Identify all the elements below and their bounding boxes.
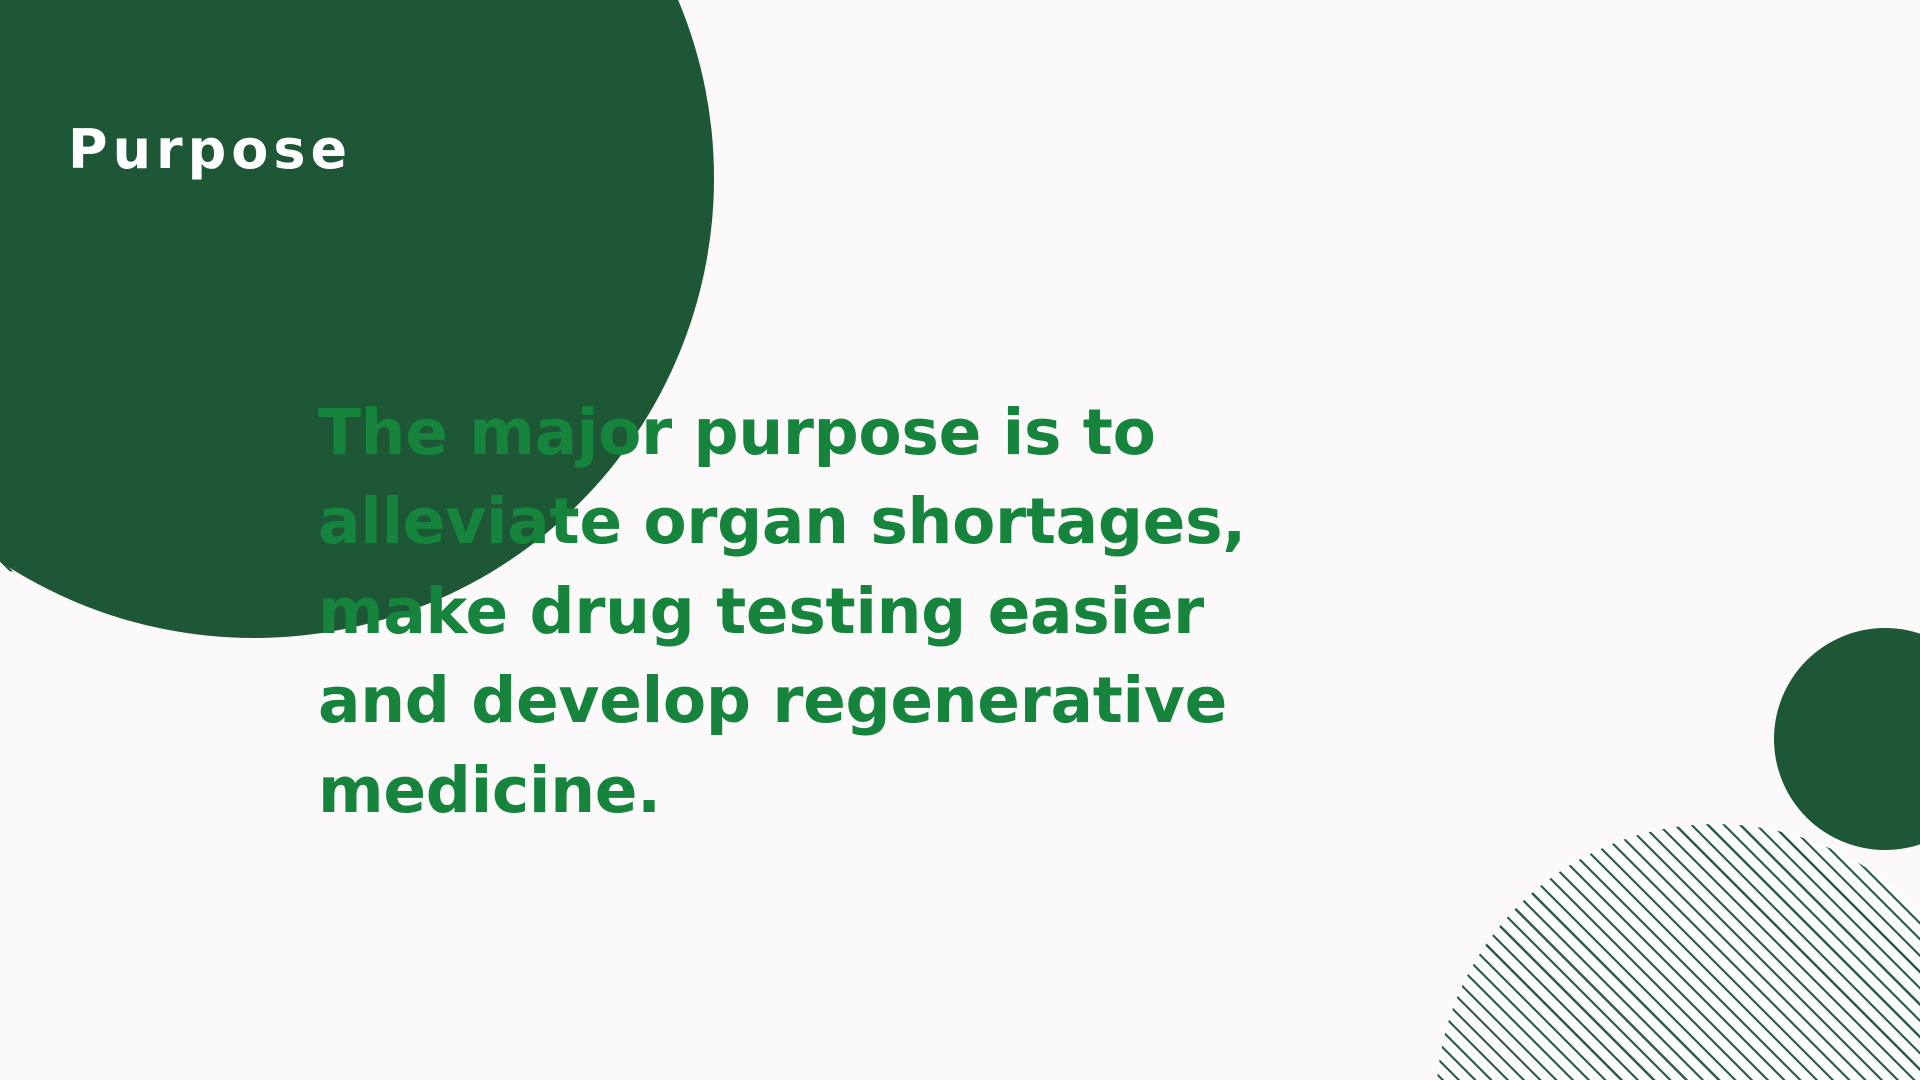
title-block: Purpose xyxy=(68,120,588,179)
bottom-right-hatched-circle-icon xyxy=(1436,824,1920,1080)
body-paragraph: The major purpose is to alleviate organ … xyxy=(318,388,1318,835)
body-block: The major purpose is to alleviate organ … xyxy=(318,388,1318,835)
left-hatched-circle-icon xyxy=(0,0,326,572)
slide-canvas: Purpose The major purpose is to alleviat… xyxy=(0,0,1920,1080)
right-solid-circle-icon xyxy=(1774,628,1920,850)
page-title: Purpose xyxy=(68,120,588,179)
